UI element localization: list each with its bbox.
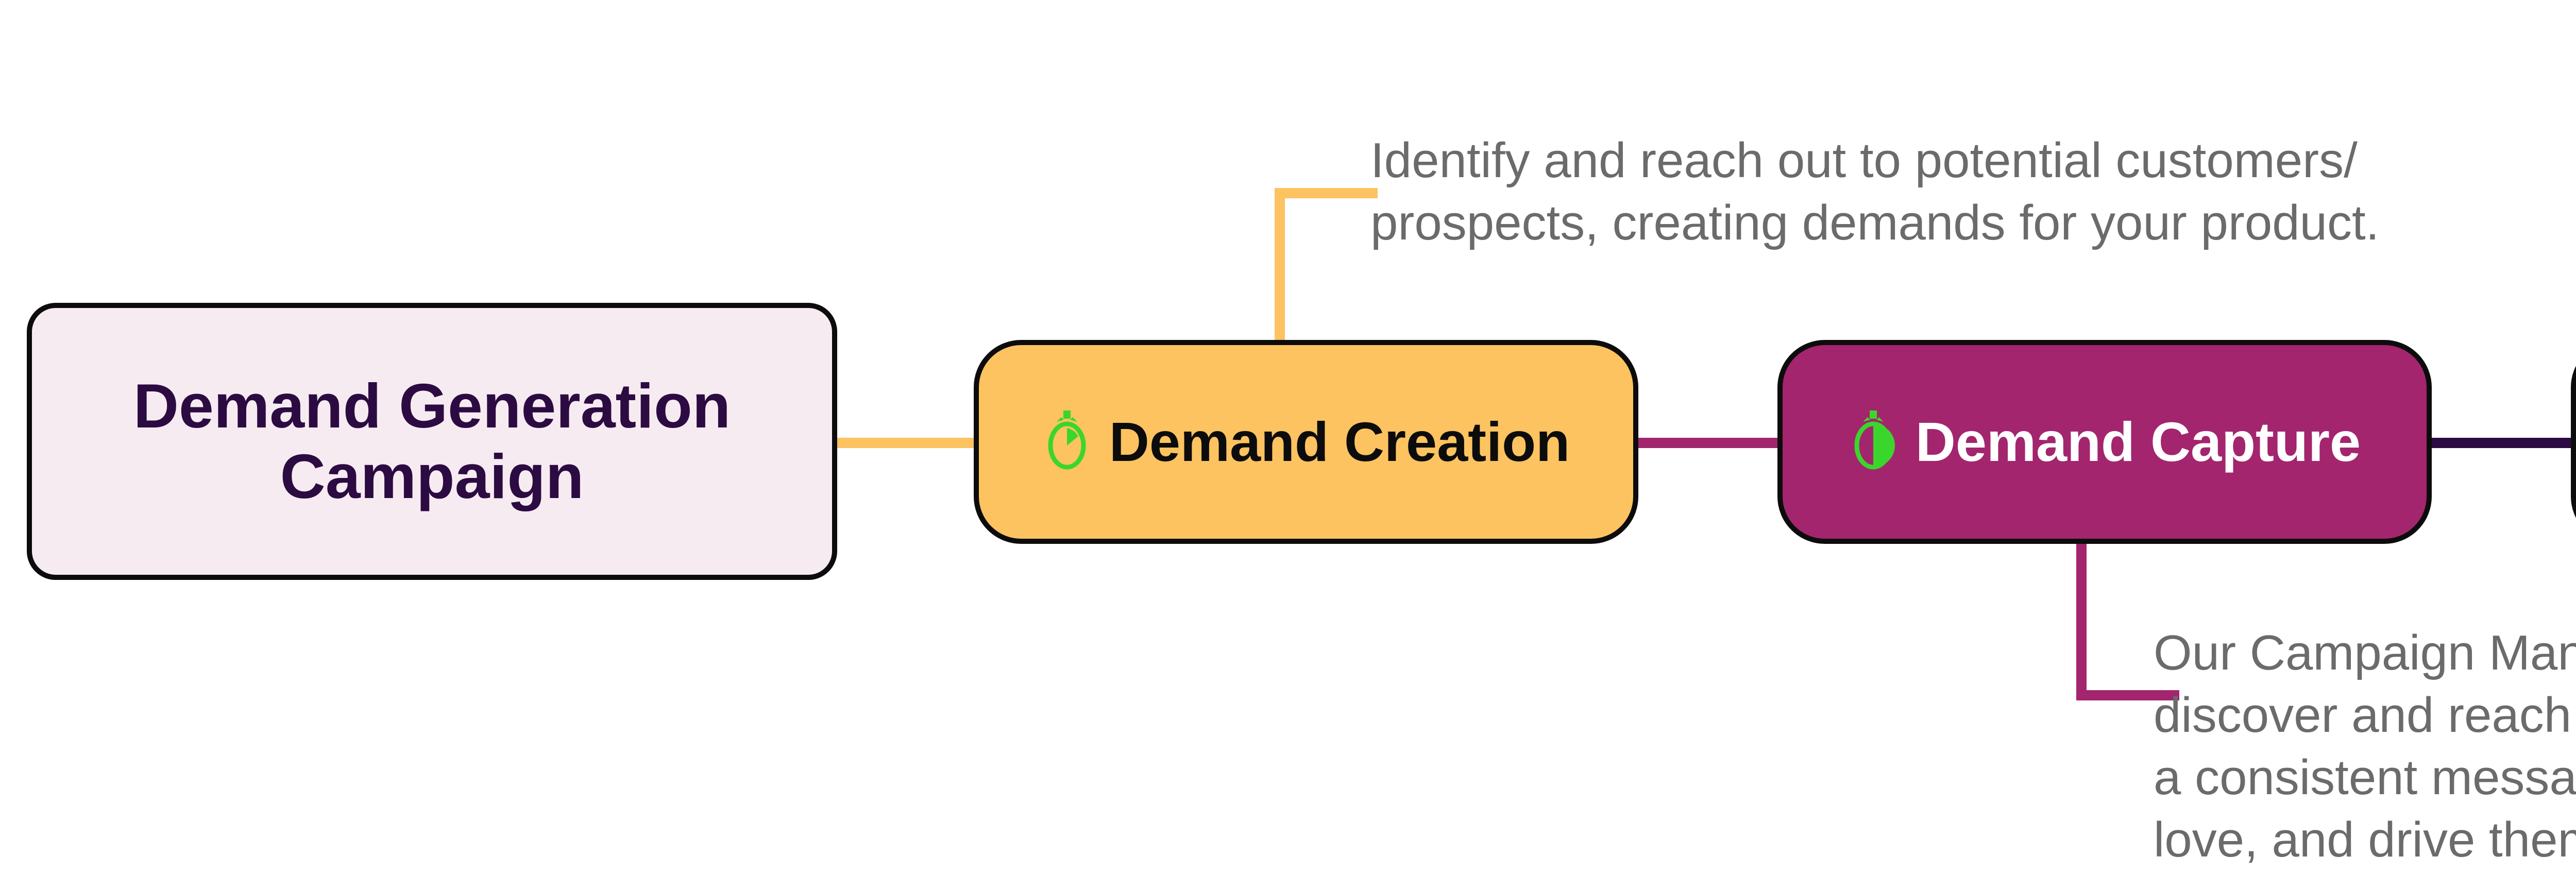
stopwatch-icon <box>1849 410 1898 474</box>
node-demand-capture[interactable]: Demand Capture <box>1777 340 2432 544</box>
node-label-campaign: Demand Generation Campaign <box>128 371 736 511</box>
node-label-capture: Demand Capture <box>1916 411 2361 473</box>
leader-capture-note-riser <box>2076 541 2087 700</box>
annotation-demand-capture: Our Campaign Management experts help you… <box>2154 622 2576 871</box>
diagram-canvas: Demand Generation Campaign Demand Creati… <box>0 0 2576 891</box>
leader-creation-note-arm <box>1275 188 1378 198</box>
annotation-demand-creation: Identify and reach out to potential cust… <box>1370 130 2432 254</box>
node-demand-creation[interactable]: Demand Creation <box>974 340 1638 544</box>
leader-creation-note-riser <box>1275 188 1285 342</box>
node-label-creation: Demand Creation <box>1109 411 1570 473</box>
connector-capture-to-management <box>2428 438 2576 448</box>
node-demand-generation-campaign[interactable]: Demand Generation Campaign <box>27 303 837 580</box>
connector-creation-to-capture <box>1634 438 1784 448</box>
stopwatch-icon <box>1042 410 1092 474</box>
node-demand-management[interactable]: Demand Management <box>2571 340 2576 544</box>
connector-campaign-to-creation <box>835 438 980 448</box>
